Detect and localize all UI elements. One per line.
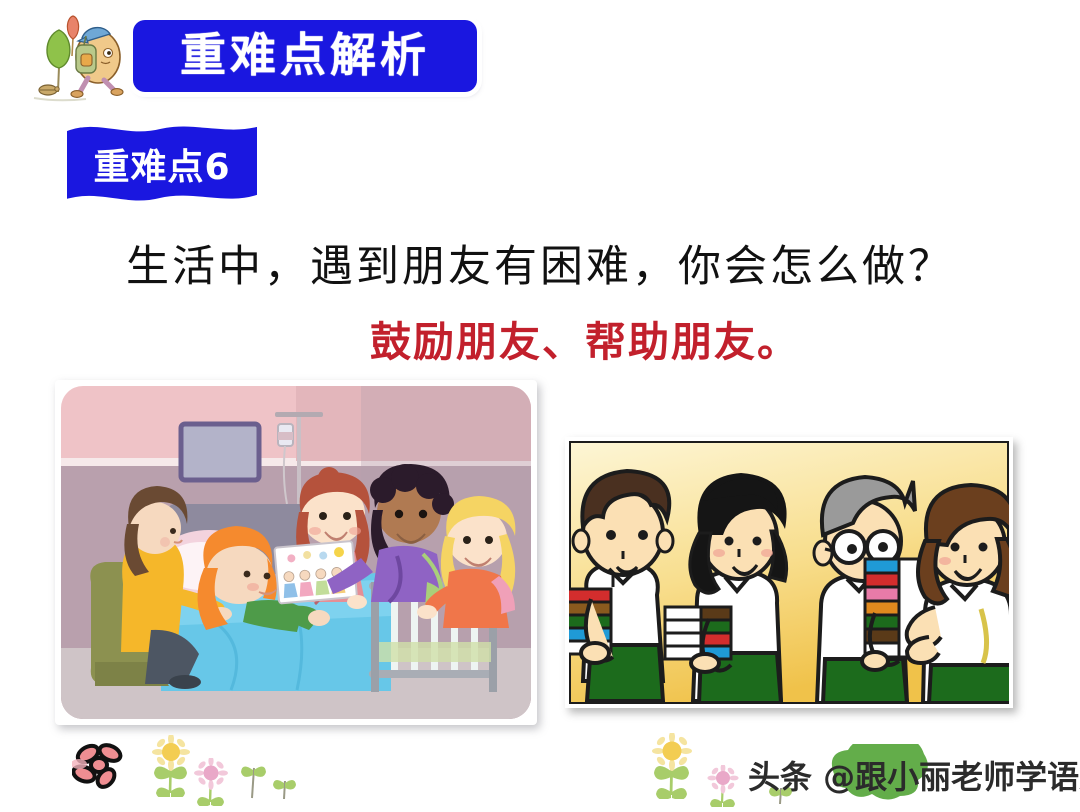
flower-pink-large-icon — [72, 740, 128, 792]
students-books-image-inner — [569, 441, 1009, 704]
watermark-text: 头条 @跟小丽老师学语文 — [748, 752, 1080, 798]
answer-text: 鼓励朋友、帮助朋友。 — [0, 308, 1080, 368]
mascot-icon — [28, 12, 128, 104]
key-point-flag-badge: 重难点6 — [58, 113, 266, 213]
daisy-yellow-icon-2 — [648, 733, 696, 799]
section-title-banner: 重难点解析 — [133, 20, 477, 92]
watermark: 头条 @跟小丽老师学语文 — [748, 752, 1080, 798]
hospital-visit-image — [55, 380, 537, 725]
sprout-green-small-icon — [272, 775, 298, 801]
daisy-yellow-icon — [148, 735, 194, 797]
key-point-label: 重难点6 — [58, 113, 266, 213]
sprout-green-icon — [240, 760, 268, 800]
hospital-visit-image-inner — [61, 386, 531, 719]
students-books-image — [565, 437, 1013, 708]
page-title: 重难点解析 — [180, 32, 430, 81]
daisy-pink-icon-2 — [705, 765, 741, 807]
daisy-pink-icon — [190, 758, 232, 806]
question-text: 生活中，遇到朋友有困难，你会怎么做？ — [0, 232, 1080, 294]
